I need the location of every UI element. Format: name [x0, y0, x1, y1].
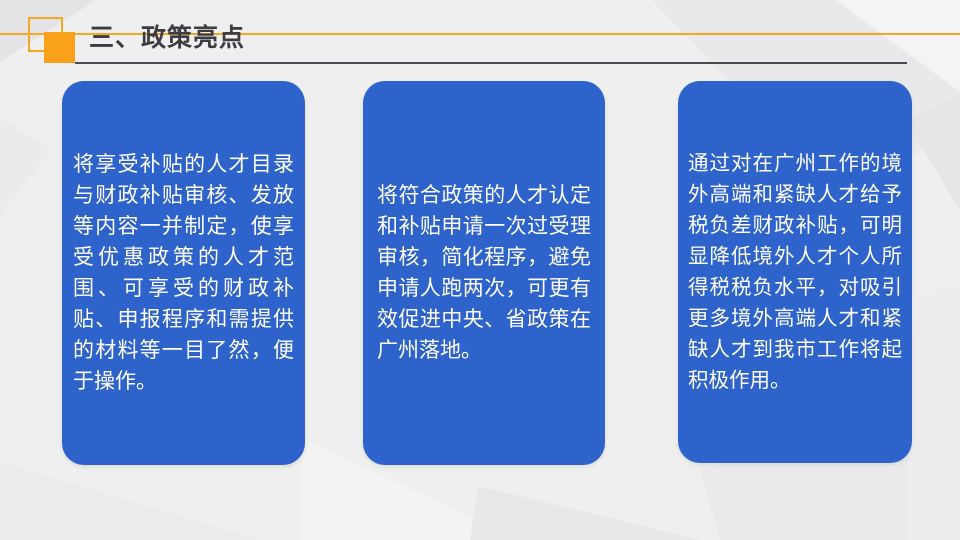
policy-card-3: 通过对在广州工作的境外高端和紧缺人才给予税负差财政补贴，可明显降低境外人才个人所… [678, 81, 912, 463]
policy-card-3-text: 通过对在广州工作的境外高端和紧缺人才给予税负差财政补贴，可明显降低境外人才个人所… [678, 148, 912, 396]
policy-card-1: 将享受补贴的人才目录与财政补贴审核、发放等内容一并制定，使享受优惠政策的人才范围… [62, 81, 305, 465]
policy-card-2: 将符合政策的人才认定和补贴申请一次过受理审核，简化程序，避免申请人跑两次，可更有… [363, 81, 605, 465]
card-group: 将享受补贴的人才目录与财政补贴审核、发放等内容一并制定，使享受优惠政策的人才范围… [0, 0, 960, 540]
policy-card-1-text: 将享受补贴的人才目录与财政补贴审核、发放等内容一并制定，使享受优惠政策的人才范围… [62, 149, 305, 397]
slide-canvas: 三、政策亮点 将享受补贴的人才目录与财政补贴审核、发放等内容一并制定，使享受优惠… [0, 0, 960, 540]
policy-card-2-text: 将符合政策的人才认定和补贴申请一次过受理审核，简化程序，避免申请人跑两次，可更有… [363, 180, 605, 366]
